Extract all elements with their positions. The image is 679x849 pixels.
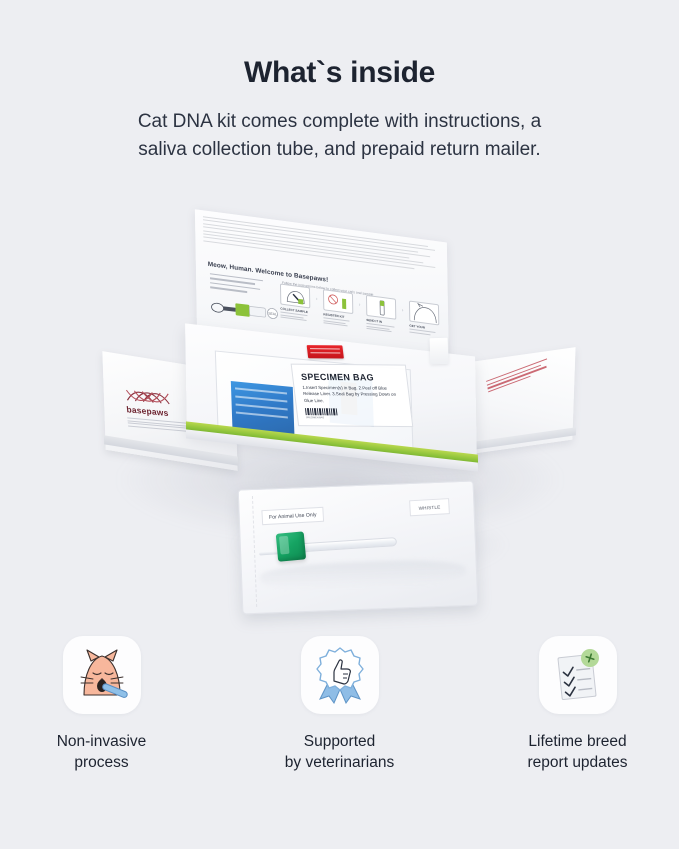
tube-illustration: SEAL (210, 298, 281, 322)
feature-icon-tile (301, 636, 379, 714)
bag-crease (260, 558, 467, 592)
whats-inside-page: What`s inside Cat DNA kit comes complete… (0, 0, 679, 849)
feature-list: Non-invasive process Supported by veteri… (0, 636, 679, 774)
feature-item: Non-invasive process (37, 636, 167, 774)
feature-label-line2: process (74, 754, 128, 771)
page-subtitle: Cat DNA kit comes complete with instruct… (120, 108, 560, 164)
feature-label-line1: Non-invasive (57, 733, 147, 750)
step-illustration-collect (280, 283, 310, 308)
specimen-barcode (305, 408, 405, 416)
feature-icon-tile (63, 636, 141, 714)
header: What`s inside Cat DNA kit comes complete… (0, 0, 679, 164)
checklist-icon (549, 646, 607, 704)
bag-label-left-text: For Animal Use Only (269, 512, 317, 521)
instruction-step: GET YOUR (409, 300, 440, 336)
cat-results-step-icon (410, 302, 439, 326)
step-illustration-send (366, 295, 396, 320)
svg-text:SEAL: SEAL (268, 312, 277, 317)
red-seal-sticker (307, 345, 344, 358)
instruction-step: REGISTER KIT (323, 289, 354, 327)
feature-label: Supported by veterinarians (275, 732, 405, 774)
bag-label-animal-use: For Animal Use Only (261, 507, 324, 525)
step-illustration-register (323, 289, 353, 314)
feature-label-line2: report updates (528, 754, 628, 771)
logo-fineprint (127, 417, 190, 431)
bag-label-code: WHISTLE (409, 498, 450, 516)
bag-label-right-text: WHISTLE (418, 504, 440, 510)
step-arrow-icon: › (399, 299, 406, 321)
feature-label-line1: Supported (304, 733, 376, 750)
specimen-bag-title: SPECIMEN BAG (301, 372, 401, 383)
basepaws-logo: basepaws (124, 387, 190, 433)
instruction-step: SEND IT IN (366, 295, 397, 333)
instruction-step: COLLECT SAMPLE (280, 283, 311, 321)
step-arrow-icon: › (356, 293, 363, 315)
feature-label-line1: Lifetime breed (528, 733, 626, 750)
red-note-text (486, 358, 550, 394)
instruction-steps: COLLECT SAMPLE › REGISTER KIT (280, 276, 441, 338)
box-inner-tab (430, 338, 449, 365)
vet-badge-icon (310, 645, 370, 705)
feature-label: Non-invasive process (37, 732, 167, 774)
swab-tube-green-cap (276, 531, 306, 561)
specimen-bag-label: SPECIMEN BAG 1.Insert Specimen(s) in Bag… (291, 364, 414, 428)
specimen-bag-instructions: 1.Insert Specimen(s) in Bag. 2.Peel off … (302, 385, 404, 405)
bag-seal-edge (243, 496, 257, 607)
feature-label: Lifetime breed report updates (513, 732, 643, 774)
step-illustration-results (409, 300, 439, 325)
specimen-barcode-text: SPECIMEN BAG (306, 416, 406, 420)
no-food-step-icon (324, 290, 353, 314)
cat-swab-icon (71, 645, 133, 705)
saliva-collection-tube-bag: For Animal Use Only WHISTLE (238, 481, 479, 615)
lid-bullet-lines (210, 273, 268, 298)
product-photo: basepaws Meow, Human. Welcome to Basepaw… (0, 210, 679, 630)
feature-item: Supported by veterinarians (275, 636, 405, 774)
feature-label-line2: by veterinarians (285, 754, 394, 771)
page-title: What`s inside (0, 56, 679, 90)
tube-step-icon (367, 296, 396, 320)
cat-swab-step-icon (281, 285, 310, 309)
step-arrow-icon: › (313, 288, 320, 310)
feature-item: Lifetime breed report updates (513, 636, 643, 774)
feature-icon-tile (539, 636, 617, 714)
